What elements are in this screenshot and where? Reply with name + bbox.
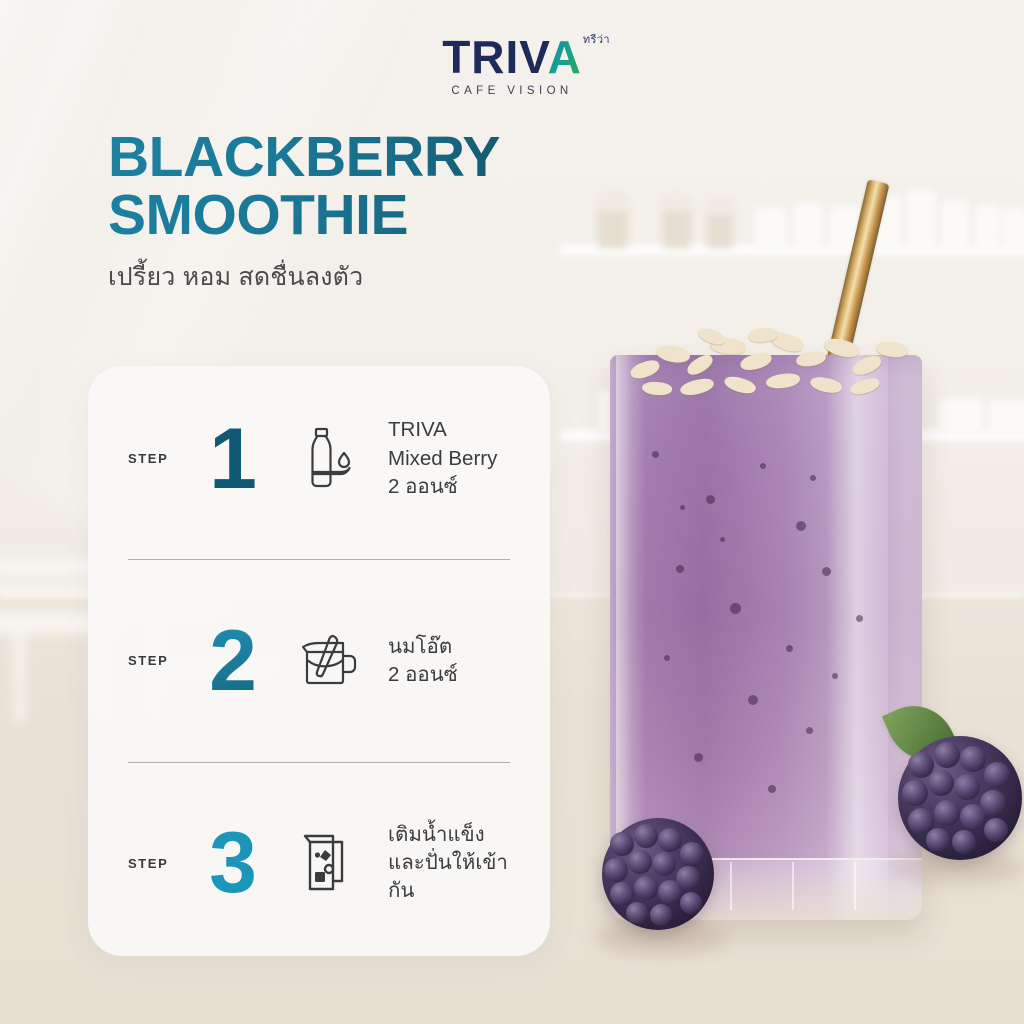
logo-wordmark-dark: TRIV bbox=[442, 31, 547, 83]
step-label-1: STEP bbox=[128, 451, 186, 466]
step-text-3-line-1: เติมน้ำแข็ง bbox=[388, 821, 510, 849]
step-divider-1 bbox=[128, 559, 510, 560]
shelf-cup-2 bbox=[793, 203, 823, 249]
step-divider-2 bbox=[128, 762, 510, 763]
step-text-2-line-2: 2 ออนซ์ bbox=[388, 661, 510, 689]
step-label-2: STEP bbox=[128, 653, 186, 668]
step-text-3-line-2: และปั่นให้เข้ากัน bbox=[388, 849, 510, 906]
shelf-mug-lower-1 bbox=[940, 398, 984, 432]
blackberry-left bbox=[602, 818, 714, 930]
shelf-cup-5 bbox=[906, 190, 936, 249]
oat-topping bbox=[620, 328, 914, 404]
chair-leg-left bbox=[14, 630, 25, 722]
blackberry-right bbox=[898, 736, 1022, 860]
ice-pitcher-icon bbox=[286, 831, 370, 895]
step-text-1: TRIVA Mixed Berry 2 ออนซ์ bbox=[388, 416, 510, 501]
step-number-2: 2 bbox=[190, 618, 276, 704]
shelf-cup-1 bbox=[755, 207, 787, 249]
step-text-3: เติมน้ำแข็ง และปั่นให้เข้ากัน bbox=[388, 821, 510, 906]
recipe-poster: ทรีว่า TRIVA CAFE VISION BLACKBERRY SMOO… bbox=[0, 0, 1024, 1024]
step-row-3: STEP 3 เติมน้ำแข็ง และปั่นให้เข้ากัน bbox=[116, 778, 522, 948]
logo-wordmark-accent: A bbox=[548, 31, 582, 83]
shelf-cup-6 bbox=[941, 200, 969, 249]
step-label-3: STEP bbox=[128, 856, 186, 871]
step-row-2: STEP 2 นมโอ๊ต 2 ออนซ์ bbox=[116, 576, 522, 746]
shelf-cup-8 bbox=[1003, 208, 1024, 249]
step-text-1-line-1: TRIVA bbox=[388, 416, 510, 444]
bottle-dropper-icon bbox=[286, 426, 370, 492]
step-text-1-line-3: 2 ออนซ์ bbox=[388, 473, 510, 501]
logo-tagline: CAFE VISION bbox=[382, 85, 642, 97]
step-text-1-line-2: Mixed Berry bbox=[388, 445, 510, 473]
step-text-2: นมโอ๊ต 2 ออนซ์ bbox=[388, 633, 510, 690]
page-title: BLACKBERRY SMOOTHIE bbox=[108, 128, 628, 244]
step-number-3: 3 bbox=[190, 820, 276, 906]
plant-sprig-2 bbox=[660, 192, 694, 212]
shelf-jar-3 bbox=[707, 212, 733, 248]
step-number-1: 1 bbox=[190, 416, 276, 502]
logo-thai-text: ทรีว่า bbox=[583, 30, 610, 48]
glass-highlight-right bbox=[826, 355, 888, 920]
milk-pitcher-icon bbox=[286, 632, 370, 690]
shelf-mug-lower-2 bbox=[988, 400, 1024, 432]
steps-card: STEP 1 TRIVA Mixed Berry 2 ออนซ์ STEP 2 bbox=[88, 366, 550, 956]
logo-wordmark: TRIVA bbox=[442, 34, 582, 80]
title-line-2: SMOOTHIE bbox=[108, 186, 628, 244]
step-text-2-line-1: นมโอ๊ต bbox=[388, 633, 510, 661]
step-row-1: STEP 1 TRIVA Mixed Berry 2 ออนซ์ bbox=[116, 374, 522, 544]
brand-logo[interactable]: ทรีว่า TRIVA CAFE VISION bbox=[382, 34, 642, 97]
title-line-1: BLACKBERRY bbox=[108, 125, 500, 189]
shelf-cup-7 bbox=[975, 205, 1001, 249]
shelf-jar-2 bbox=[663, 208, 691, 248]
page-subtitle: เปรี้ยว หอม สดชื่นลงตัว bbox=[108, 257, 628, 297]
headline-block: BLACKBERRY SMOOTHIE เปรี้ยว หอม สดชื่นลง… bbox=[108, 128, 628, 297]
plant-sprig-3 bbox=[704, 196, 736, 215]
